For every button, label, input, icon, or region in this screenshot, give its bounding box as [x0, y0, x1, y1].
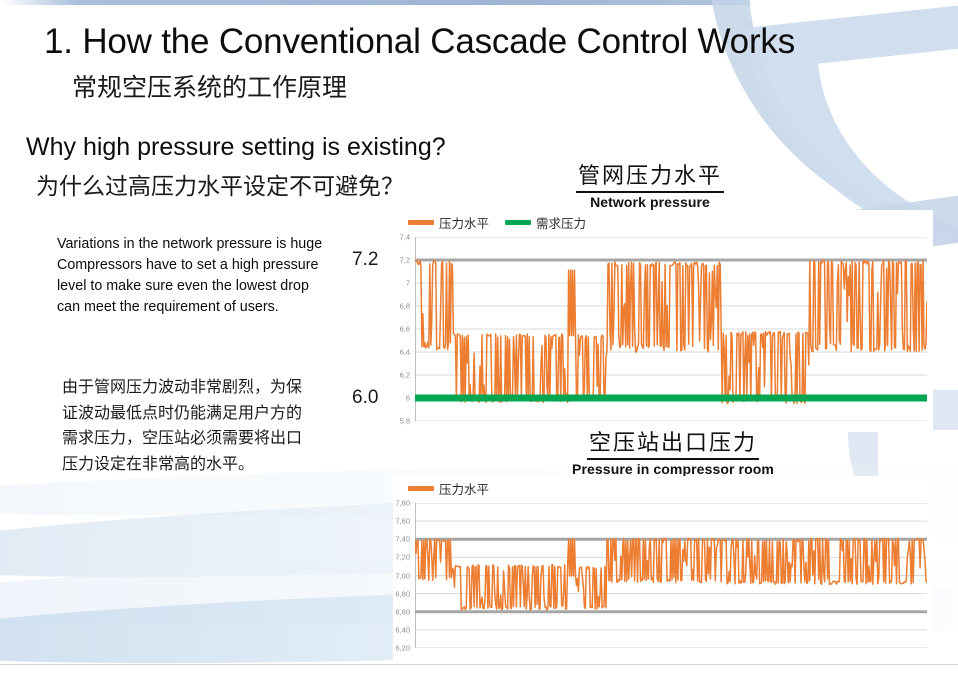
legend-item[interactable]: 压力水平 — [408, 213, 489, 232]
y-axis-tick-label: 7,80 — [395, 499, 415, 508]
chart-title-chinese: 空压站出口压力 — [587, 432, 759, 460]
y-axis-tick-label: 6,20 — [395, 644, 415, 653]
chart-compressor-room-pressure: 压力水平 7,807,607,407,207,006,806,606,406,2… — [393, 476, 933, 662]
legend-color-swatch — [408, 220, 434, 225]
chart-value-annotation: 7.2 — [352, 249, 378, 271]
y-axis-tick-label: 5,8 — [400, 417, 415, 426]
footer-divider — [0, 664, 958, 665]
question-heading-chinese: 为什么过高压力水平设定不可避免？ — [36, 167, 404, 201]
top-accent-strip — [0, 0, 958, 5]
legend-label: 需求压力 — [536, 213, 586, 232]
y-axis-tick-label: 7,2 — [400, 256, 415, 265]
chart-plot-area[interactable]: 7,47,276,86,66,46,265,8 — [415, 237, 927, 421]
chart-network-pressure: 压力水平 需求压力 7,47,276,86,66,46,265,8 — [393, 210, 933, 432]
chart-legend: 压力水平 — [408, 479, 489, 498]
y-axis-tick-label: 6 — [406, 394, 415, 403]
chart-title-network-pressure: 管网压力水平 Network pressure — [545, 165, 755, 210]
y-axis-tick-label: 7 — [406, 279, 415, 288]
legend-label: 压力水平 — [439, 213, 489, 232]
legend-color-swatch — [505, 220, 531, 225]
chart-plot-area[interactable]: 7,807,607,407,207,006,806,606,406,20 — [415, 503, 927, 648]
chart-svg — [415, 503, 927, 648]
y-axis-tick-label: 6,2 — [400, 371, 415, 380]
legend-color-swatch — [408, 486, 434, 491]
body-paragraph-english: Variations in the network pressure is hu… — [57, 234, 325, 318]
page-title-chinese: 常规空压系统的工作原理 — [72, 68, 347, 104]
chart-subtitle-english: Network pressure — [545, 194, 755, 210]
chart-subtitle-english: Pressure in compressor room — [528, 461, 818, 477]
question-heading-english: Why high pressure setting is existing? — [26, 133, 446, 162]
chart-legend: 压力水平 需求压力 — [408, 213, 586, 232]
chart-title-chinese: 管网压力水平 — [576, 165, 724, 193]
slide-canvas: 1. How the Conventional Cascade Control … — [0, 0, 958, 674]
legend-item[interactable]: 需求压力 — [505, 213, 586, 232]
y-axis-tick-label: 6,40 — [395, 625, 415, 634]
y-axis-tick-label: 6,8 — [400, 302, 415, 311]
chart-title-compressor-room: 空压站出口压力 Pressure in compressor room — [528, 432, 818, 477]
y-axis-tick-label: 7,4 — [400, 233, 415, 242]
body-paragraph-chinese: 由于管网压力波动非常剧烈，为保证波动最低点时仍能满足用户方的需求压力，空压站必须… — [62, 374, 312, 476]
y-axis-tick-label: 7,60 — [395, 517, 415, 526]
page-title: 1. How the Conventional Cascade Control … — [44, 22, 795, 62]
legend-item[interactable]: 压力水平 — [408, 479, 489, 498]
y-axis-tick-label: 7,20 — [395, 553, 415, 562]
y-axis-tick-label: 6,4 — [400, 348, 415, 357]
y-axis-tick-label: 7,00 — [395, 571, 415, 580]
legend-label: 压力水平 — [439, 479, 489, 498]
chart-value-annotation: 6.0 — [352, 387, 378, 409]
y-axis-tick-label: 6,60 — [395, 607, 415, 616]
y-axis-tick-label: 6,80 — [395, 589, 415, 598]
y-axis-tick-label: 6,6 — [400, 325, 415, 334]
y-axis-tick-label: 7,40 — [395, 535, 415, 544]
chart-svg — [415, 237, 927, 421]
